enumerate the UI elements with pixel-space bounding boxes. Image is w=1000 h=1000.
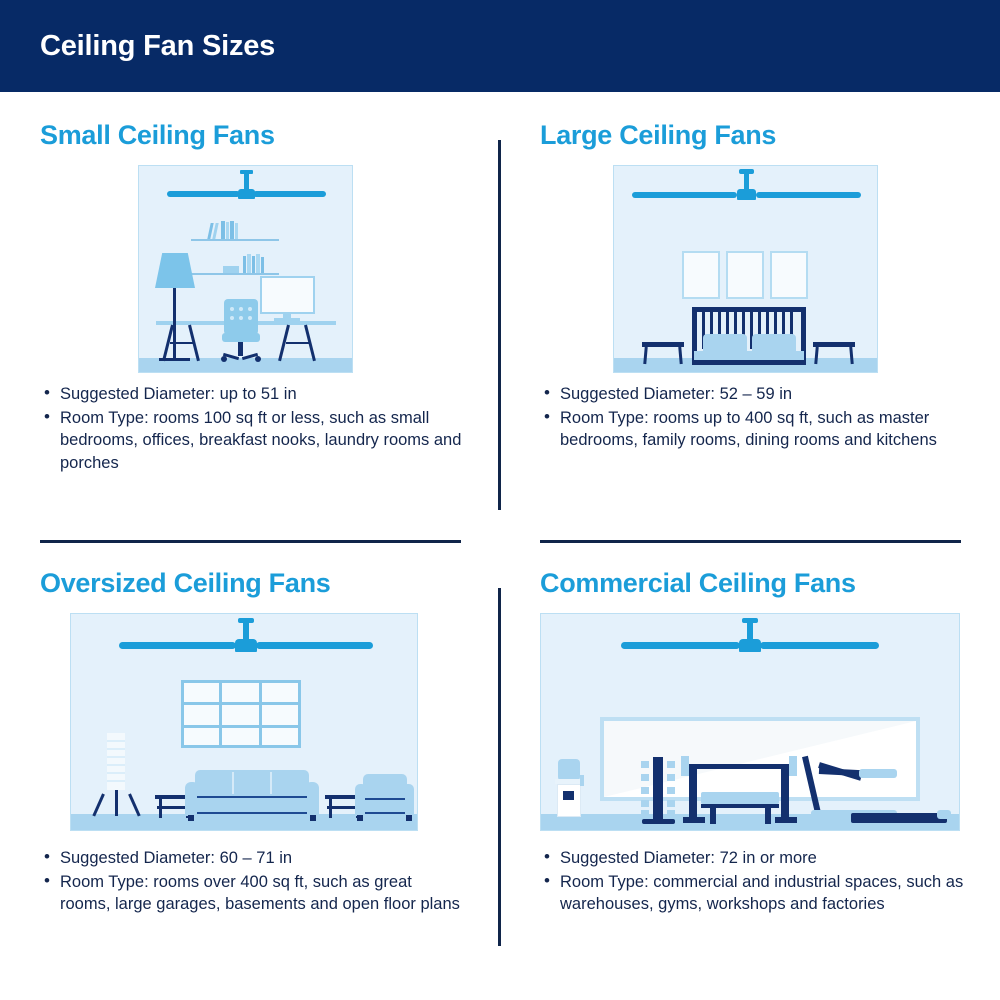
ceiling-fan-icon: [71, 614, 418, 664]
list-item: Suggested Diameter: up to 51 in: [40, 383, 465, 406]
bench-press-upright: [781, 769, 789, 819]
vertical-divider-top: [498, 140, 501, 510]
list-item: Room Type: commercial and industrial spa…: [540, 871, 965, 916]
monitor: [260, 276, 315, 314]
wall-art-frame: [770, 251, 808, 299]
section-title-large: Large Ceiling Fans: [540, 120, 965, 151]
bullet-list-oversized: Suggested Diameter: 60 – 71 in Room Type…: [40, 847, 465, 916]
water-cooler-body: [557, 784, 581, 817]
bullet-list-large: Suggested Diameter: 52 – 59 in Room Type…: [540, 383, 965, 452]
wall-art-frame: [682, 251, 720, 299]
list-item: Suggested Diameter: 72 in or more: [540, 847, 965, 870]
bullet-list-small: Suggested Diameter: up to 51 in Room Typ…: [40, 383, 465, 474]
floor-lamp-shade: [155, 253, 195, 288]
dumbbell-rack-post: [653, 757, 663, 819]
list-item: Suggested Diameter: 60 – 71 in: [40, 847, 465, 870]
page-header: Ceiling Fan Sizes: [0, 0, 1000, 92]
armchair-back: [363, 774, 407, 798]
horizontal-divider-right: [540, 540, 961, 543]
bullet-list-commercial: Suggested Diameter: 72 in or more Room T…: [540, 847, 965, 916]
section-title-oversized: Oversized Ceiling Fans: [40, 568, 465, 599]
sofa-arm: [305, 782, 319, 816]
ceiling-fan-icon: [139, 166, 353, 216]
water-cooler-bottle: [558, 759, 580, 781]
shelf-lower: [191, 273, 279, 275]
home-office-room-illustration: [138, 165, 353, 373]
shelf-upper: [191, 239, 279, 241]
vertical-divider-bottom: [498, 588, 501, 946]
bench-press-upright: [689, 769, 697, 819]
sofa-back: [195, 770, 309, 796]
list-item: Room Type: rooms over 400 sq ft, such as…: [40, 871, 465, 916]
list-item: Room Type: rooms up to 400 sq ft, such a…: [540, 407, 965, 452]
section-title-small: Small Ceiling Fans: [40, 120, 465, 151]
section-large-ceiling-fans: Large Ceiling Fans: [540, 120, 965, 520]
bench-pad: [701, 792, 779, 804]
treadmill-console: [859, 769, 897, 778]
section-commercial-ceiling-fans: Commercial Ceiling Fans: [540, 568, 965, 968]
barbell: [687, 764, 791, 769]
bedroom-room-illustration: [613, 165, 878, 373]
infographic-page: Ceiling Fan Sizes Small Ceiling Fans: [0, 0, 1000, 1000]
living-room-illustration: [70, 613, 418, 831]
section-title-commercial: Commercial Ceiling Fans: [540, 568, 965, 599]
wall-art-frame: [726, 251, 764, 299]
mattress: [694, 351, 804, 360]
ceiling-fan-icon: [614, 166, 878, 216]
horizontal-divider-left: [40, 540, 461, 543]
window: [181, 680, 301, 748]
floor: [71, 814, 417, 830]
section-small-ceiling-fans: Small Ceiling Fans: [40, 120, 465, 520]
ceiling-fan-icon: [541, 614, 960, 664]
list-item: Suggested Diameter: 52 – 59 in: [540, 383, 965, 406]
page-title: Ceiling Fan Sizes: [0, 30, 275, 63]
list-item: Room Type: rooms 100 sq ft or less, such…: [40, 407, 465, 475]
section-oversized-ceiling-fans: Oversized Ceiling Fans: [40, 568, 465, 968]
gym-room-illustration: [540, 613, 960, 831]
